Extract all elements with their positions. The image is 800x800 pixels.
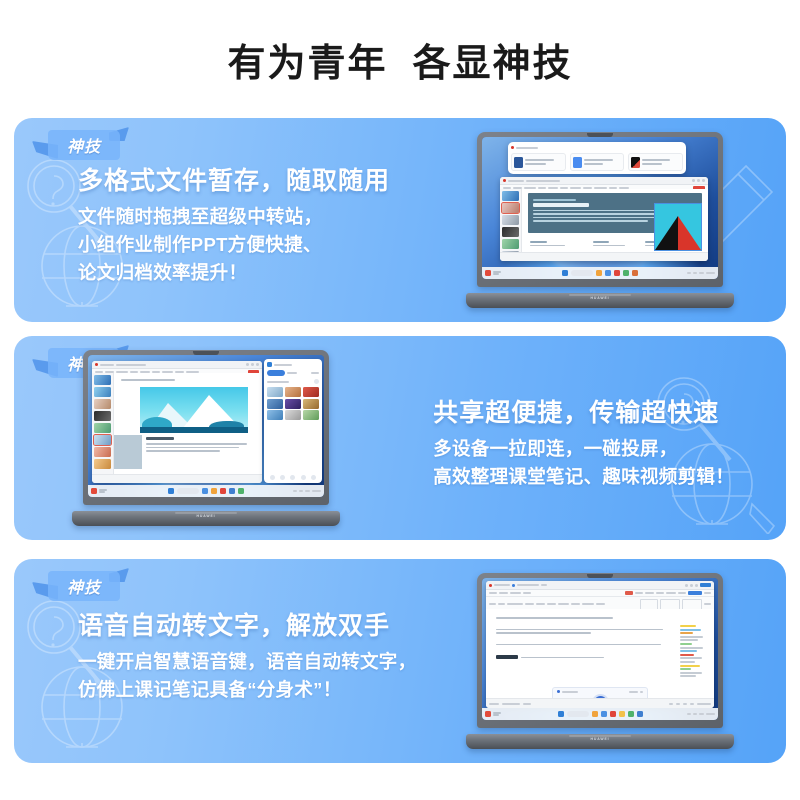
dragged-image-object[interactable] <box>654 203 702 251</box>
card-1-subline: 文件随时拖拽至超级中转站， 小组作业制作PPT方便快捷、 论文归档效率提升！ <box>78 203 390 287</box>
dock-icon[interactable] <box>301 475 306 480</box>
document-page[interactable] <box>486 609 714 698</box>
dock-icon[interactable] <box>311 475 316 480</box>
image-file-icon <box>631 157 640 168</box>
taskbar-app-icon[interactable] <box>202 488 208 494</box>
slide-thumbnail-pane[interactable] <box>500 189 522 253</box>
window-statusbar <box>92 474 262 483</box>
laptop-screen-1 <box>482 137 718 279</box>
presentation-window-1[interactable] <box>500 177 708 261</box>
windows-taskbar-1[interactable] <box>482 267 718 279</box>
laptop-device-1: HUAWEI <box>466 132 734 308</box>
page-header: 有为青年 各显神技 <box>0 0 800 118</box>
close-icon[interactable] <box>702 179 705 182</box>
taskbar-search-box[interactable] <box>571 270 593 276</box>
laptop-base-2: HUAWEI <box>72 511 340 526</box>
window-titlebar <box>486 581 714 590</box>
start-icon[interactable] <box>558 711 564 717</box>
taskbar-app-icon[interactable] <box>211 488 217 494</box>
badge-shenji-1: 神技 <box>48 130 120 160</box>
taskbar-app-icon[interactable] <box>623 270 629 276</box>
minimize-icon[interactable] <box>685 584 688 587</box>
laptop-brand-label: HUAWEI <box>591 296 610 300</box>
laptop-brand-label: HUAWEI <box>591 737 610 741</box>
slide-canvas[interactable] <box>522 189 708 253</box>
taskbar-system-tray[interactable] <box>687 713 715 715</box>
laptop-lid-3 <box>477 573 723 728</box>
slide-thumbnail-pane[interactable] <box>92 373 114 475</box>
mirror-media-grid[interactable] <box>267 387 319 420</box>
taskbar-app-icon[interactable] <box>220 488 226 494</box>
word-file-icon <box>514 157 523 168</box>
taskbar-app-icon[interactable] <box>229 488 235 494</box>
mirror-panel-header <box>267 362 319 367</box>
document-window-3[interactable] <box>486 581 714 708</box>
mirror-panel-dock[interactable] <box>267 475 319 480</box>
doc-tab-icon[interactable] <box>512 584 515 587</box>
close-icon[interactable] <box>256 363 259 366</box>
card-1-headline: 多格式文件暂存，随取随用 <box>78 166 390 197</box>
app-logo-icon <box>503 179 506 182</box>
transfer-panel-header <box>511 145 683 150</box>
app-dot-icon <box>511 146 514 149</box>
taskbar-weather-widget[interactable] <box>91 488 107 494</box>
app-logo-icon <box>489 584 492 587</box>
taskbar-weather-widget[interactable] <box>485 270 501 276</box>
badge-shenji-3: 神技 <box>48 571 120 601</box>
feature-card-3: 神技 语音自动转文字，解放双手 一键开启智慧语音键，语音自动转文字， 仿佛上课记… <box>14 559 786 763</box>
maximize-icon[interactable] <box>251 363 254 366</box>
laptop-lid-2 <box>83 350 329 505</box>
taskbar-app-icon[interactable] <box>614 270 620 276</box>
presentation-window-2[interactable] <box>92 361 262 483</box>
laptop-screen-2 <box>88 355 324 497</box>
maximize-icon[interactable] <box>697 179 700 182</box>
badge-body: 神技 <box>48 571 120 601</box>
windows-taskbar-2[interactable] <box>88 485 324 497</box>
voice-to-text-panel[interactable] <box>552 687 648 698</box>
laptop-base-1: HUAWEI <box>466 293 734 308</box>
windows-taskbar-3[interactable] <box>482 708 718 720</box>
badge-label: 神技 <box>67 574 101 598</box>
taskbar-search-box[interactable] <box>567 711 589 717</box>
taskbar-app-icon[interactable] <box>605 270 611 276</box>
card-3-text-block: 语音自动转文字，解放双手 一键开启智慧语音键，语音自动转文字， 仿佛上课记笔记具… <box>78 611 416 704</box>
taskbar-app-icon[interactable] <box>238 488 244 494</box>
taskbar-search-box[interactable] <box>177 488 199 494</box>
taskbar-app-icon[interactable] <box>632 270 638 276</box>
taskbar-app-icon[interactable] <box>592 711 598 717</box>
super-transfer-station-panel[interactable] <box>508 142 686 174</box>
dock-icon[interactable] <box>270 475 275 480</box>
minimize-icon[interactable] <box>246 363 249 366</box>
minimize-icon[interactable] <box>692 179 695 182</box>
taskbar-system-tray[interactable] <box>687 272 715 274</box>
voice-panel-options[interactable] <box>557 690 643 693</box>
file-card-word[interactable] <box>511 153 566 171</box>
document-notes-pane[interactable] <box>680 625 706 682</box>
taskbar-app-icon[interactable] <box>628 711 634 717</box>
window-statusbar <box>500 252 708 261</box>
laptop-device-3: HUAWEI <box>466 573 734 749</box>
laptop-screen-3 <box>482 578 718 720</box>
laptop-base-3: HUAWEI <box>466 734 734 749</box>
card-2-subline: 多设备一拉即连，一碰投屏， 高效整理课堂笔记、趣味视频剪辑！ <box>433 435 734 491</box>
close-icon[interactable] <box>695 584 698 587</box>
pdf-file-icon <box>573 157 582 168</box>
feature-card-2: 神技 共享超便捷，传输超快速 多设备一拉即连，一碰投屏， 高效整理课堂笔记、趣味… <box>14 336 786 540</box>
slide-photo-mountain[interactable] <box>140 387 248 433</box>
poster-page: 有为青年 各显神技 神技 <box>0 0 800 800</box>
taskbar-app-icon[interactable] <box>610 711 616 717</box>
window-titlebar <box>500 177 708 185</box>
window-ribbon-tabs[interactable] <box>486 590 714 597</box>
laptop-brand-label: HUAWEI <box>197 514 216 518</box>
start-icon[interactable] <box>168 488 174 494</box>
transfer-file-list <box>511 153 683 171</box>
transfer-title-placeholder <box>516 147 538 149</box>
taskbar-app-icon[interactable] <box>601 711 607 717</box>
card-1-text-block: 多格式文件暂存，随取随用 文件随时拖拽至超级中转站， 小组作业制作PPT方便快捷… <box>78 166 390 288</box>
taskbar-app-icon[interactable] <box>637 711 643 717</box>
laptop-device-2: HUAWEI <box>72 350 340 526</box>
page-title: 有为青年 各显神技 <box>227 32 572 87</box>
dock-icon[interactable] <box>280 475 285 480</box>
dock-icon[interactable] <box>290 475 295 480</box>
taskbar-app-icon[interactable] <box>596 270 602 276</box>
card-3-subline: 一键开启智慧语音键，语音自动转文字， 仿佛上课记笔记具备“分身术”！ <box>78 648 416 704</box>
laptop-lid-1 <box>477 132 723 287</box>
app-logo-icon <box>95 363 98 366</box>
taskbar-weather-widget[interactable] <box>485 711 501 717</box>
file-card-image[interactable] <box>628 153 683 171</box>
card-2-headline: 共享超便捷，传输超快速 <box>433 398 734 429</box>
taskbar-system-tray[interactable] <box>293 490 321 492</box>
badge-label: 神技 <box>67 133 101 157</box>
file-card-pdf[interactable] <box>570 153 625 171</box>
document-statusbar <box>486 698 714 708</box>
phone-mirror-panel[interactable] <box>264 359 322 483</box>
badge-body: 神技 <box>48 130 120 160</box>
slide-canvas[interactable] <box>114 373 262 475</box>
card-3-headline: 语音自动转文字，解放双手 <box>78 611 416 642</box>
card-2-text-block: 共享超便捷，传输超快速 多设备一拉即连，一碰投屏， 高效整理课堂笔记、趣味视频剪… <box>433 398 734 491</box>
taskbar-app-icon[interactable] <box>619 711 625 717</box>
window-titlebar <box>92 361 262 369</box>
start-icon[interactable] <box>562 270 568 276</box>
maximize-icon[interactable] <box>690 584 693 587</box>
feature-card-1: 神技 多格式文件暂存，随取随用 文件随时拖拽至超级中转站， 小组作业制作PPT方… <box>14 118 786 322</box>
